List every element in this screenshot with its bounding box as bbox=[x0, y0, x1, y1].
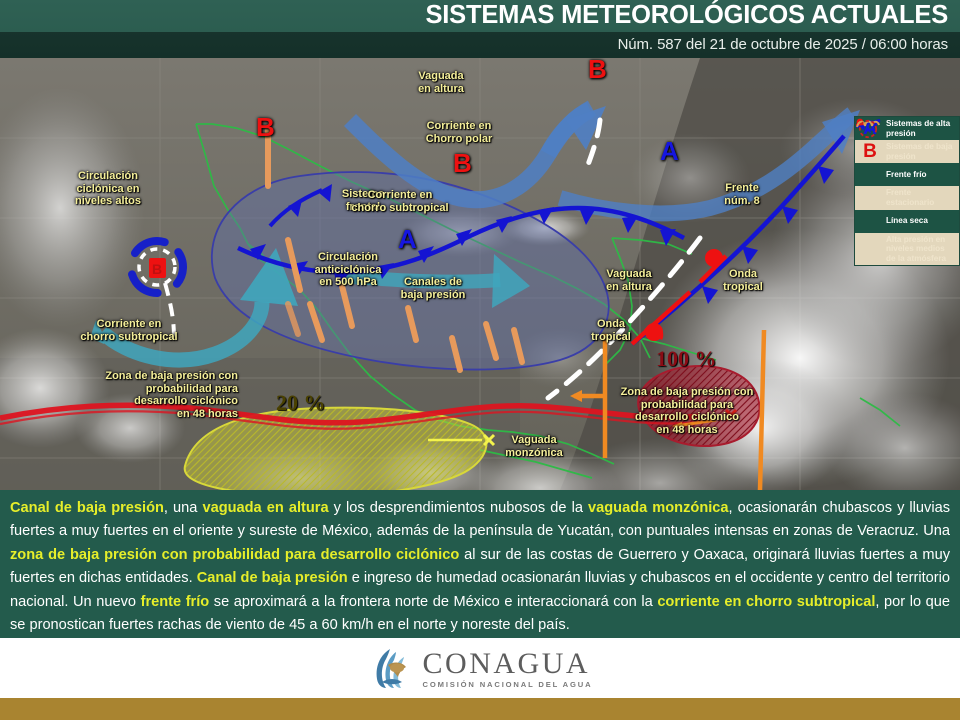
forecast-paragraph: Canal de baja presión, una vaguada en al… bbox=[10, 497, 950, 637]
logo-wordmark: CONAGUA bbox=[423, 648, 593, 679]
weather-bulletin-page: SISTEMAS METEOROLÓGICOS ACTUALES Núm. 58… bbox=[0, 0, 960, 720]
svg-text:B: B bbox=[152, 261, 162, 277]
probability-value-cyclone-probability-atlantic: 100 % bbox=[656, 346, 717, 372]
conagua-water-emblem-icon bbox=[368, 645, 414, 691]
pressure-letter-low-pressure-B-top-right: B bbox=[588, 58, 607, 85]
forecast-text-panel: Canal de baja presión, una vaguada en al… bbox=[0, 490, 960, 638]
legend-item-mid-level-high: A Alta presión en niveles medios de la a… bbox=[855, 233, 959, 266]
highlighted-term: Canal de baja presión bbox=[10, 500, 164, 516]
legend-label-dry-line: Línea seca bbox=[885, 214, 959, 228]
pressure-letter-low-pressure-B-baja: B bbox=[256, 112, 275, 143]
bulletin-number-date: Núm. 587 del 21 de octubre de 2025 / 06:… bbox=[618, 36, 948, 53]
letter-B-red-icon: B bbox=[855, 147, 885, 157]
page-title: SISTEMAS METEOROLÓGICOS ACTUALES bbox=[425, 1, 948, 30]
highlighted-term: vaguada en altura bbox=[202, 500, 328, 516]
legend-label-mid-level-high: Alta presión en niveles medios de la atm… bbox=[885, 233, 959, 266]
legend-item-dry-line: Línea seca bbox=[855, 210, 959, 233]
highlighted-term: zona de baja presión con probabilidad pa… bbox=[10, 547, 459, 563]
conagua-logo: CONAGUA COMISIÓN NACIONAL DEL AGUA bbox=[368, 645, 593, 691]
probability-value-cyclone-probability-pacific: 20 % bbox=[276, 390, 326, 416]
page-header: SISTEMAS METEOROLÓGICOS ACTUALES Núm. 58… bbox=[0, 0, 960, 58]
legend-item-cold-front: Frente frío bbox=[855, 163, 959, 186]
svg-text:A: A bbox=[865, 125, 872, 135]
legend-label-low-pressure: Sistemas de baja presión bbox=[885, 140, 959, 163]
map-graphics-layer: B bbox=[0, 58, 960, 490]
highlighted-term: frente frío bbox=[141, 594, 210, 610]
pressure-letter-high-pressure-A-gulf: A bbox=[660, 136, 679, 167]
highlighted-term: corriente en chorro subtropical bbox=[657, 594, 875, 610]
legend-item-low-pressure: B Sistemas de baja presión bbox=[855, 140, 959, 163]
highlighted-term: vaguada monzónica bbox=[588, 500, 729, 516]
legend-label-stationary-front: Frente estacionario bbox=[885, 186, 959, 209]
footer-gold-bar bbox=[0, 698, 960, 720]
legend-item-stationary-front: Frente estacionario bbox=[855, 186, 959, 209]
satellite-weather-map[interactable]: B bbox=[0, 58, 960, 490]
legend-label-cold-front: Frente frío bbox=[885, 168, 959, 182]
highlighted-term: Canal de baja presión bbox=[197, 570, 348, 586]
pressure-letter-high-pressure-A-center: A bbox=[398, 224, 417, 255]
page-footer: CONAGUA COMISIÓN NACIONAL DEL AGUA bbox=[0, 638, 960, 698]
legend-label-high-pressure: Sistemas de alta presión bbox=[885, 117, 959, 140]
pressure-letter-low-pressure-B-front: B bbox=[453, 148, 472, 179]
map-legend: A Sistemas de alta presión B Sistemas de… bbox=[854, 116, 960, 266]
logo-subtitle: COMISIÓN NACIONAL DEL AGUA bbox=[423, 680, 593, 689]
